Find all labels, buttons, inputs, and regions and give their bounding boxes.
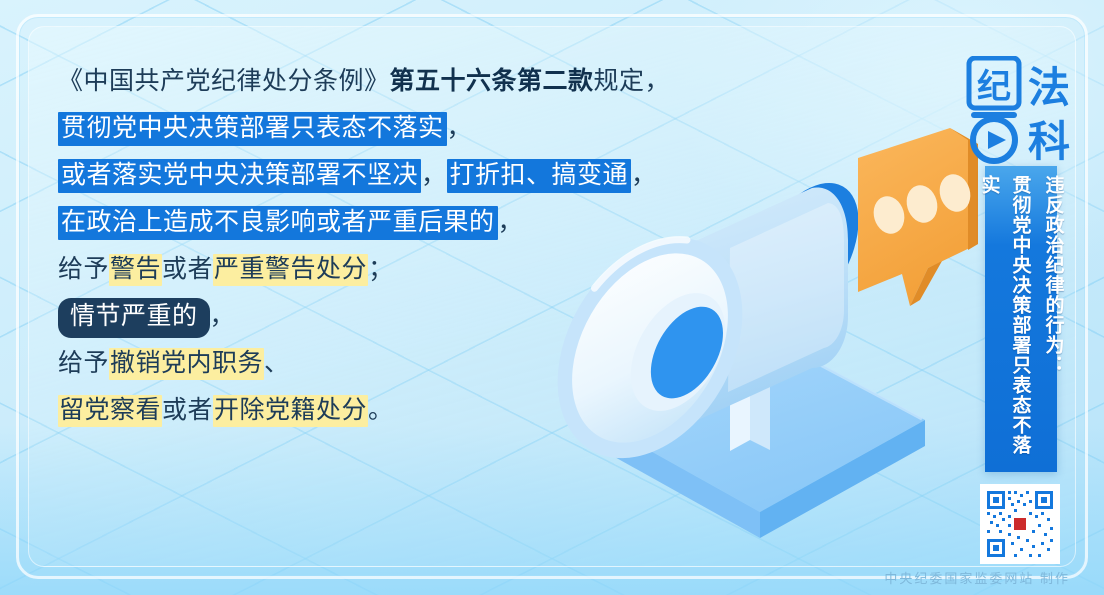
text-line: 留党察看或者开除党籍处分。 [58,387,708,434]
logo-char-fa: 法 [1028,65,1070,112]
punctuation: ， [210,303,236,330]
text-line: 给予警告或者严重警告处分； [58,246,708,293]
text-line: 情节严重的， [58,293,708,340]
logo-char-ke: 科 [1028,119,1070,164]
title-bold: 第五十六条第二款 [390,68,594,95]
center-stamp-icon [1014,518,1026,530]
punctuation: ， [447,115,473,142]
punctuation: ， [631,162,657,189]
jifa-baike-logo: 纪 法 科 [965,56,1077,164]
highlight-blue: 或者落实党中央决策部署不坚决 [58,159,421,193]
highlight-yellow: 警告 [109,254,162,286]
plain-text: 或者 [162,397,213,424]
punctuation: ， [498,209,524,236]
text-line: 给予撤销党内职务、 [58,340,708,387]
highlight-blue: 在政治上造成不良影响或者严重后果的 [58,206,498,240]
plain-text: 给予 [58,256,109,283]
footer-credit: 中央纪委国家监委网站 制作 [884,568,1070,587]
vertical-banner: 违反政治纪律的行为： 贯彻党中央决策部署只表态不落实 [985,166,1057,472]
highlight-yellow: 开除党籍处分 [213,395,368,427]
regulation-text-block: 《中国共产党纪律处分条例》第五十六条第二款规定， 贯彻党中央决策部署只表态不落实… [58,58,708,434]
highlight-yellow: 严重警告处分 [213,254,368,286]
banner-column-left: 贯彻党中央决策部署只表态不落实 [974,175,1036,472]
punctuation: 。 [368,397,394,424]
poster-canvas: 《中国共产党纪律处分条例》第五十六条第二款规定， 贯彻党中央决策部署只表态不落实… [0,0,1104,595]
punctuation: ； [368,256,394,283]
pill-badge: 情节严重的 [58,298,210,338]
title-suffix: 规定， [594,68,671,95]
speech-bubble [858,128,978,306]
plain-text: 或者 [162,256,213,283]
text-line: 或者落实党中央决策部署不坚决，打折扣、搞变通， [58,152,708,199]
punctuation: 、 [264,350,290,377]
text-line: 贯彻党中央决策部署只表态不落实， [58,105,708,152]
play-triangle-icon [988,131,1006,149]
text-line: 在政治上造成不良影响或者严重后果的， [58,199,708,246]
highlight-yellow: 撤销党内职务 [109,348,264,380]
qr-code[interactable] [980,484,1060,564]
highlight-yellow: 留党察看 [58,395,162,427]
logo-char-ji: 纪 [977,68,1011,106]
title-line: 《中国共产党纪律处分条例》第五十六条第二款规定， [58,58,708,105]
punctuation: ， [421,162,447,189]
banner-column-right: 违反政治纪律的行为： [1038,175,1069,472]
title-prefix: 《中国共产党纪律处分条例》 [58,68,390,95]
highlight-blue: 贯彻党中央决策部署只表态不落实 [58,112,447,146]
plain-text: 给予 [58,350,109,377]
highlight-blue: 打折扣、搞变通 [447,159,632,193]
